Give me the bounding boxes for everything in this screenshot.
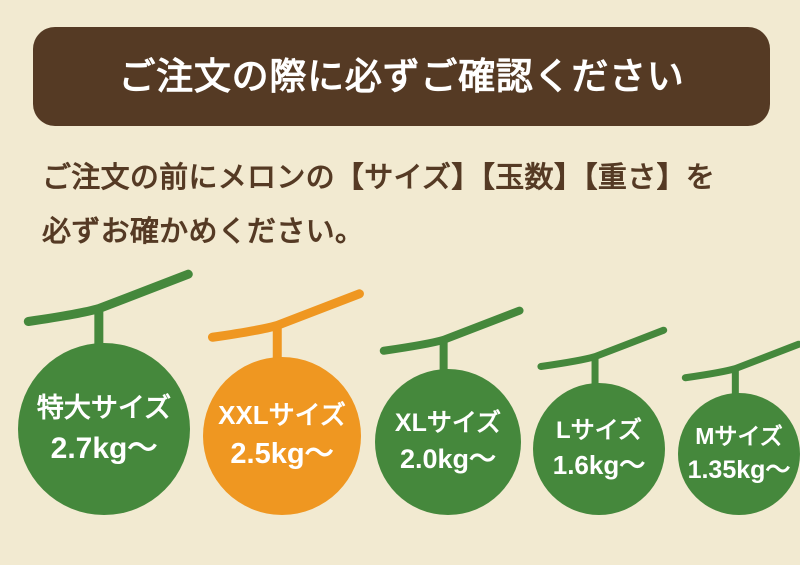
melon-size-label: 特大サイズ [37,393,171,423]
melon-size-badge: XLサイズ2.0kg〜 [375,307,521,515]
melon-weight-label: 2.7kg〜 [51,432,158,466]
melon-circle: XLサイズ2.0kg〜 [375,369,521,515]
melon-size-label: Mサイズ [695,424,782,450]
melon-size-badge: Mサイズ1.35kg〜 [678,331,800,515]
lead-line-1: ご注文の前にメロンの【サイズ】【玉数】【重さ】を [42,152,762,206]
melon-size-badge: 特大サイズ2.7kg〜 [18,281,190,515]
lead-line-2: 必ずお確かめください。 [42,206,762,260]
melon-size-badge: Lサイズ1.6kg〜 [533,321,665,515]
melon-circle: Lサイズ1.6kg〜 [533,383,665,515]
melon-circle: Mサイズ1.35kg〜 [678,393,800,515]
melon-size-row: 特大サイズ2.7kg〜XXLサイズ2.5kg〜XLサイズ2.0kg〜Lサイズ1.… [0,300,800,540]
header-banner: ご注文の際に必ずご確認ください [33,27,770,126]
melon-size-label: XXLサイズ [218,401,346,430]
page-title: ご注文の際に必ずご確認ください [118,58,684,95]
melon-weight-label: 2.0kg〜 [400,444,496,474]
melon-size-label: Lサイズ [556,418,642,445]
melon-circle: XXLサイズ2.5kg〜 [203,357,361,515]
melon-weight-label: 1.35kg〜 [688,456,791,484]
melon-weight-label: 2.5kg〜 [230,438,333,470]
lead-paragraph: ご注文の前にメロンの【サイズ】【玉数】【重さ】を 必ずお確かめください。 [42,152,762,259]
melon-weight-label: 1.6kg〜 [553,451,646,480]
melon-size-guide-page: ご注文の際に必ずご確認ください ご注文の前にメロンの【サイズ】【玉数】【重さ】を… [0,0,800,565]
melon-circle: 特大サイズ2.7kg〜 [18,343,190,515]
melon-size-badge: XXLサイズ2.5kg〜 [203,295,361,515]
melon-size-label: XLサイズ [395,409,501,437]
